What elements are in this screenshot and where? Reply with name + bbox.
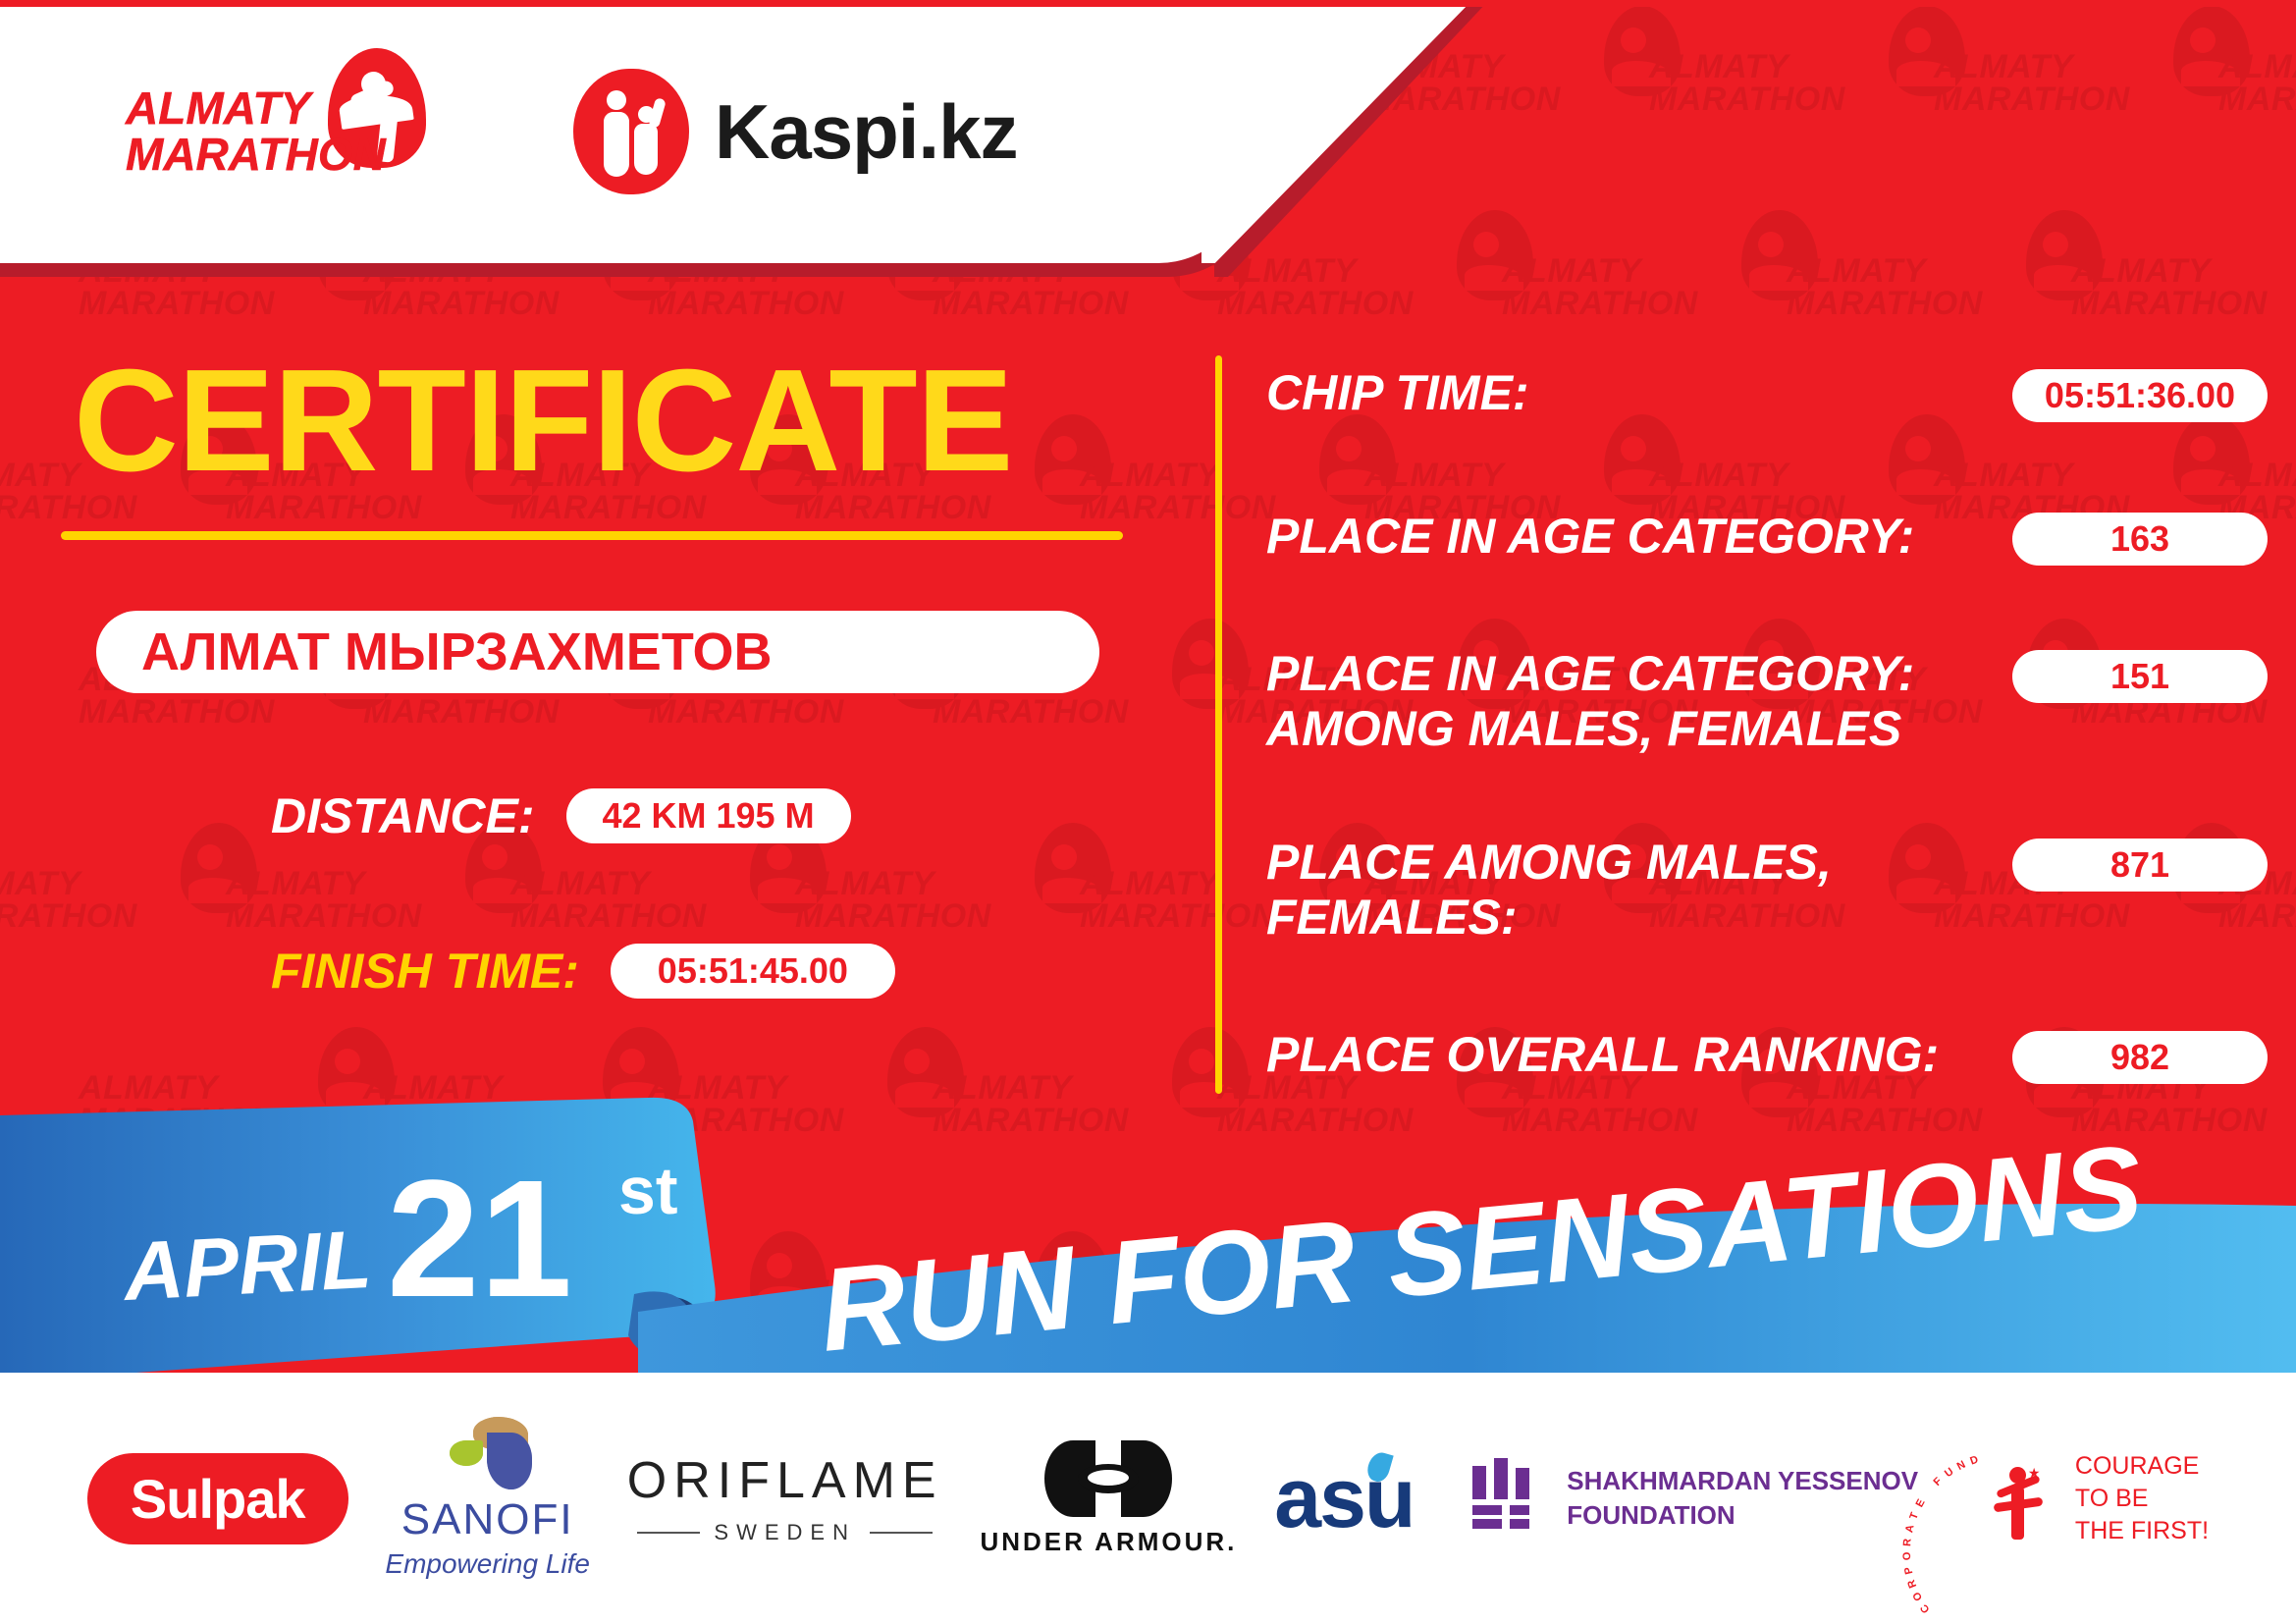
sanofi-wordmark: SANOFI <box>401 1495 574 1544</box>
oriflame-wordmark: ORIFLAME <box>627 1451 943 1510</box>
sponsor-asu: asu <box>1274 1456 1435 1541</box>
arc-char: P <box>1902 1566 1915 1576</box>
oriflame-rule-right <box>870 1532 933 1534</box>
fund-figure-icon: ★ <box>1999 1467 2038 1542</box>
ribbon-month: APRIL <box>120 1213 374 1318</box>
corporate-fund-wordmark: COURAGE TO BE THE FIRST! <box>2075 1450 2209 1547</box>
under-armour-wordmark: UNDER ARMOUR. <box>980 1527 1237 1557</box>
result-value: 163 <box>2012 513 2268 566</box>
watermark-tile: ALMATYMARATHON <box>2218 51 2296 117</box>
finish-time-row: FINISH TIME: 05:51:45.00 <box>271 943 1207 1000</box>
result-row-place-among-gender: PLACE AMONG MALES, FEMALES: 871 <box>1266 835 2268 945</box>
yessenov-line-1: SHAKHMARDAN YESSENOV <box>1567 1464 1918 1498</box>
watermark-tile: ALMATYMARATHON <box>2071 255 2296 321</box>
distance-label: DISTANCE: <box>271 787 535 844</box>
ribbon-day-suffix: st <box>618 1154 677 1228</box>
result-value: 871 <box>2012 839 2268 892</box>
sponsor-sanofi: SANOFI Empowering Life <box>385 1417 590 1580</box>
sponsor-oriflame: ORIFLAME SWEDEN <box>627 1451 943 1545</box>
arc-char: D <box>1968 1454 1980 1468</box>
result-label: PLACE IN AGE CATEGORY: <box>1266 509 2012 564</box>
column-divider <box>1215 355 1222 1094</box>
watermark-tile: ALMATYMARATHON <box>1217 255 1541 321</box>
distance-value: 42 KM 195 M <box>566 788 851 843</box>
result-value: 982 <box>2012 1031 2268 1084</box>
result-label: CHIP TIME: <box>1266 365 2012 420</box>
arc-char: O <box>1901 1551 1914 1561</box>
sponsor-strip: Sulpak SANOFI Empowering Life ORIFLAME S… <box>0 1373 2296 1624</box>
fund-line-2: TO BE <box>2075 1483 2209 1515</box>
sanofi-tagline: Empowering Life <box>385 1548 590 1580</box>
almaty-marathon-logo: ALMATY MARATHON <box>126 48 450 215</box>
arc-char: F <box>1931 1476 1944 1489</box>
arc-char: R <box>1901 1539 1913 1547</box>
athlete-name-field: АЛМАТ МЫРЗАХМЕТОВ <box>96 611 1099 693</box>
yessenov-line-2: FOUNDATION <box>1567 1498 1918 1533</box>
oriflame-sub: SWEDEN <box>637 1520 933 1545</box>
sanofi-leaf-icon <box>444 1417 532 1491</box>
watermark-tile: ALMATYMARATHON <box>1649 51 1973 117</box>
title-underline <box>61 531 1123 540</box>
sponsor-yessenov-foundation: SHAKHMARDAN YESSENOV FOUNDATION <box>1472 1458 1918 1539</box>
finish-time-value: 05:51:45.00 <box>611 944 895 999</box>
yessenov-bars-icon <box>1472 1458 1541 1539</box>
logo-line-2: MARATHON <box>126 132 386 178</box>
top-red-rule <box>0 0 2296 7</box>
watermark-tile: ALMATYMARATHON <box>1787 255 2110 321</box>
arc-char: U <box>1943 1466 1956 1480</box>
kaspi-logo: Kaspi.kz <box>573 69 1017 194</box>
watermark-tile: ALMATYMARATHON <box>1502 255 1826 321</box>
certificate-page: ALMATYMARATHONALMATYMARATHONALMATYMARATH… <box>0 0 2296 1624</box>
results-column: CHIP TIME: 05:51:36.00 PLACE IN AGE CATE… <box>1266 365 2268 1084</box>
header-logos: ALMATY MARATHON Kaspi.kz <box>0 0 1249 263</box>
under-armour-icon <box>1044 1440 1172 1517</box>
arc-char: O <box>1910 1590 1925 1602</box>
sponsor-sulpak: Sulpak <box>87 1453 348 1544</box>
fund-line-1: COURAGE <box>2075 1450 2209 1483</box>
oriflame-country: SWEDEN <box>714 1520 856 1545</box>
result-value: 151 <box>2012 650 2268 703</box>
result-label: PLACE OVERALL RANKING: <box>1266 1027 2012 1082</box>
result-row-place-age-category: PLACE IN AGE CATEGORY: 163 <box>1266 509 2268 566</box>
page-title: CERTIFICATE <box>74 349 1207 494</box>
almaty-marathon-wordmark: ALMATY MARATHON <box>126 85 386 178</box>
distance-row: DISTANCE: 42 KM 195 M <box>271 787 1207 844</box>
certificate-left-column: CERTIFICATE АЛМАТ МЫРЗАХМЕТОВ DISTANCE: … <box>0 295 1207 1000</box>
result-label: PLACE IN AGE CATEGORY: AMONG MALES, FEMA… <box>1266 646 2012 756</box>
result-value: 05:51:36.00 <box>2012 369 2268 422</box>
finish-time-label: FINISH TIME: <box>271 943 579 1000</box>
result-row-place-age-category-gender: PLACE IN AGE CATEGORY: AMONG MALES, FEMA… <box>1266 646 2268 756</box>
watermark-tile: ALMATYMARATHON <box>1934 51 2258 117</box>
result-row-chip-time: CHIP TIME: 05:51:36.00 <box>1266 365 2268 422</box>
arc-char: R <box>1905 1578 1919 1590</box>
oriflame-rule-left <box>637 1532 700 1534</box>
event-ribbon: RUN FOR SENSATIONS APRIL 21 st <box>0 1088 2296 1412</box>
sponsor-under-armour: UNDER ARMOUR. <box>980 1440 1237 1557</box>
athlete-name-value: АЛМАТ МЫРЗАХМЕТОВ <box>141 622 772 682</box>
ribbon-day: 21 <box>387 1146 572 1332</box>
arc-char: C <box>1918 1601 1932 1615</box>
yessenov-wordmark: SHAKHMARDAN YESSENOV FOUNDATION <box>1567 1464 1918 1533</box>
logo-line-1: ALMATY <box>126 85 386 132</box>
arc-char: N <box>1955 1459 1968 1473</box>
sponsor-corporate-fund: CORPORATE FUND ★ COURAGE TO BE THE FIRST… <box>1955 1445 2209 1551</box>
kaspi-figures-icon <box>573 69 689 194</box>
result-label: PLACE AMONG MALES, FEMALES: <box>1266 835 2012 945</box>
kaspi-wordmark: Kaspi.kz <box>715 87 1017 177</box>
sulpak-wordmark: Sulpak <box>87 1453 348 1544</box>
result-row-place-overall: PLACE OVERALL RANKING: 982 <box>1266 1027 2268 1084</box>
fund-line-3: THE FIRST! <box>2075 1515 2209 1547</box>
corporate-fund-icon: CORPORATE FUND ★ <box>1955 1445 2061 1551</box>
asu-wordmark: asu <box>1274 1456 1414 1541</box>
